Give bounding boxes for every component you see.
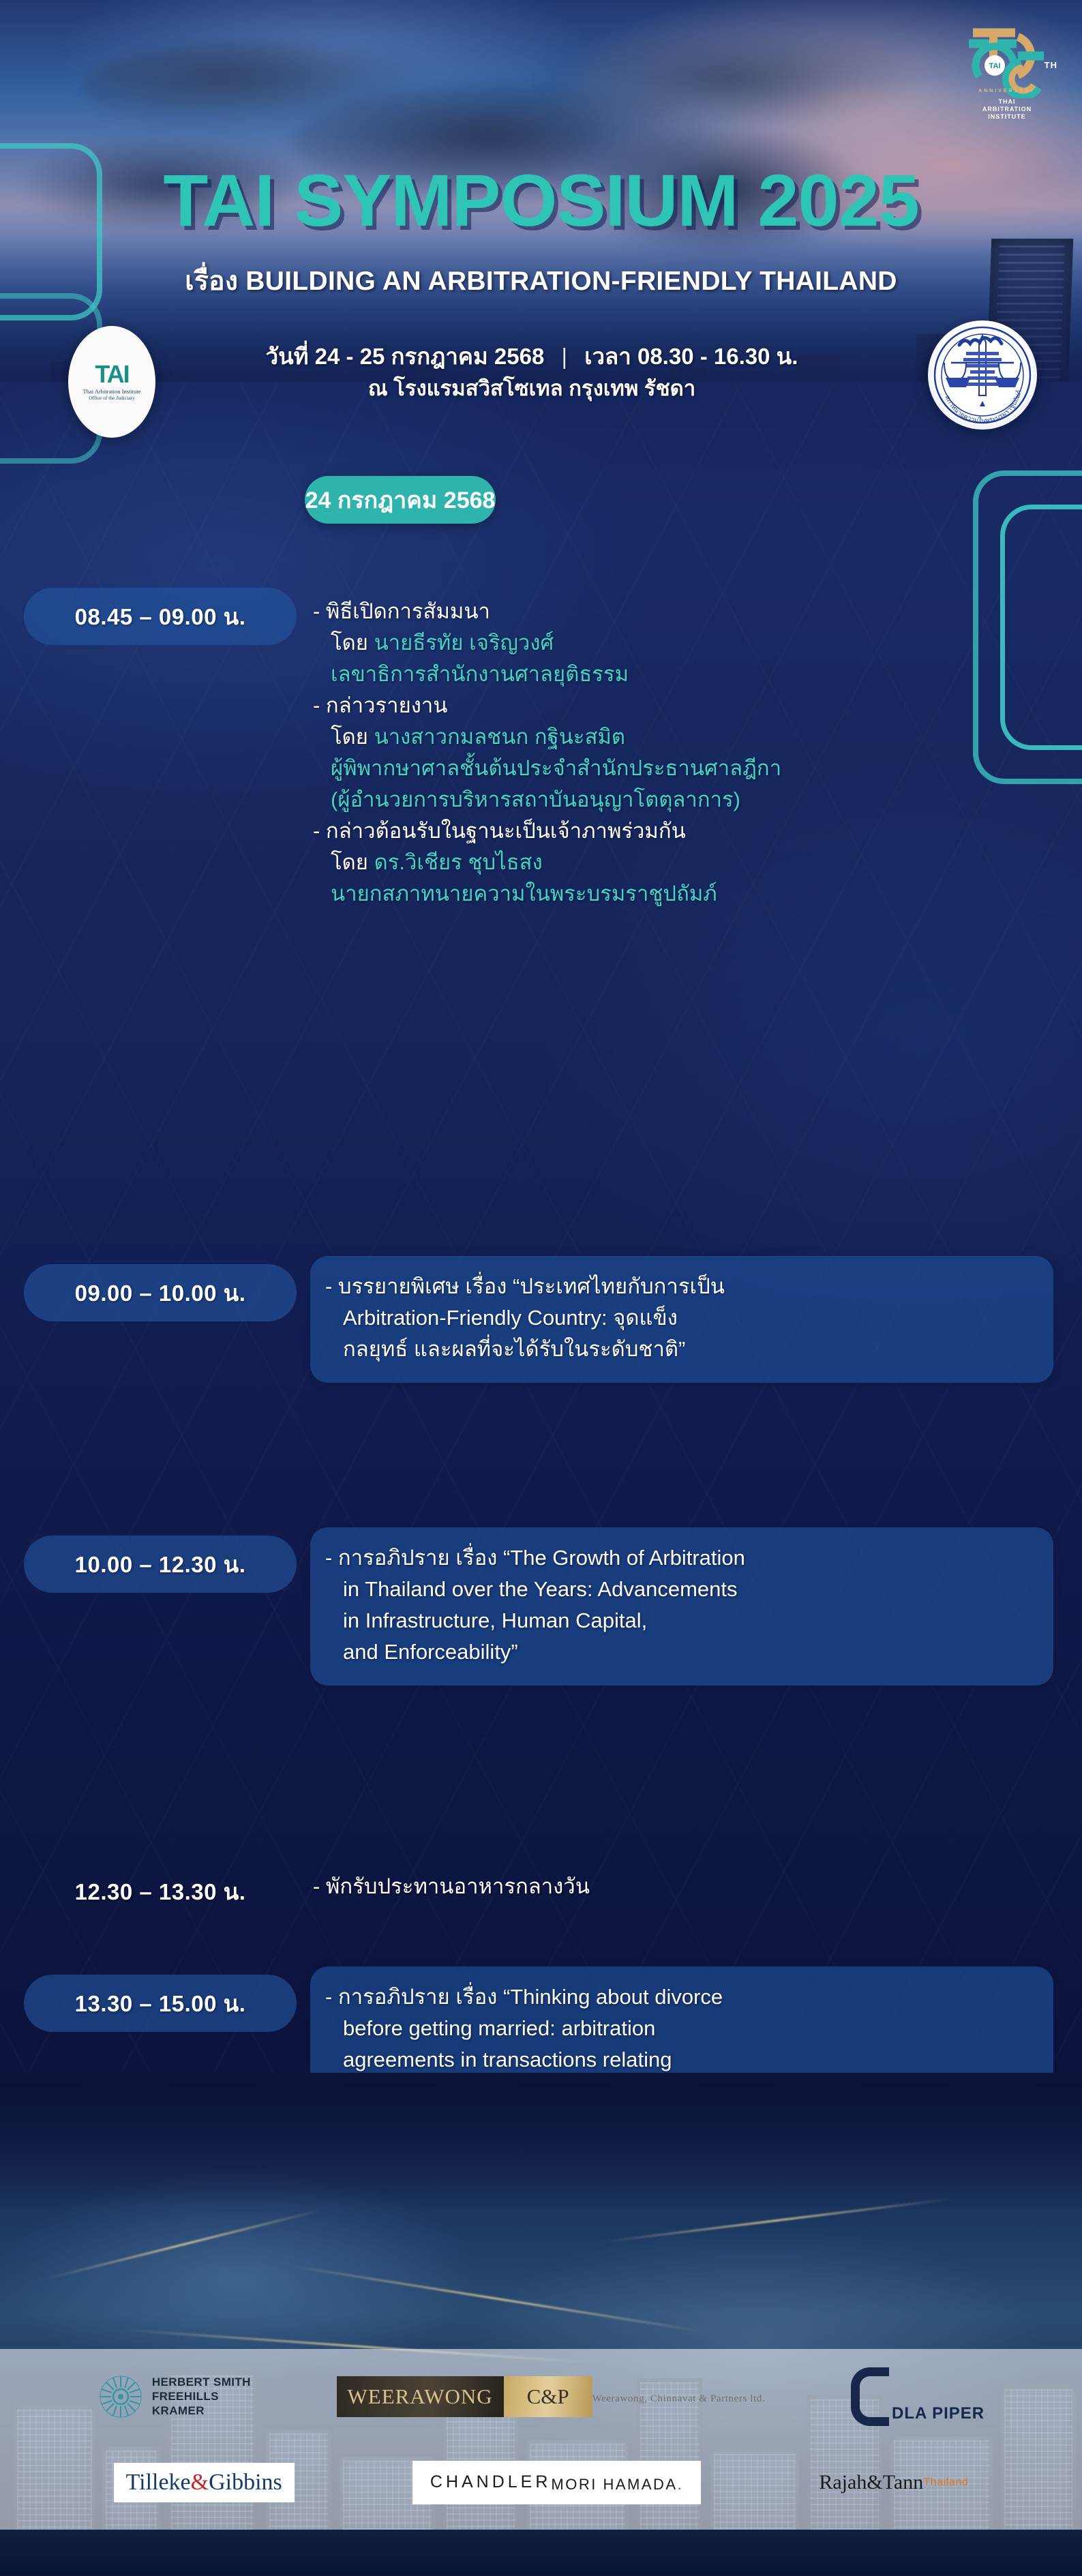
dla-piper-wordmark: DLA PIPER [892,2404,985,2426]
herbert-smith-burst-icon [97,2373,144,2420]
tilleke-line1: Tilleke [126,2470,191,2495]
schedule-detail-line: in Infrastructure, Human Capital, [325,1605,1037,1636]
schedule-detail-line: (ผู้อำนวยการบริหารสถาบันอนุญาโตตุลาการ) [313,784,1041,815]
sponsor-chandler-mori-hamada: CHANDLER MORI HAMADA. [412,2461,701,2504]
event-venue: ณ โรงแรมสวิสโซเทล กรุงเทพ รัชดา [205,372,859,405]
schedule-detail-line: โดย ดร.วิเชียร ชุบไธสง [313,847,1041,878]
schedule-row: 15.00 - 16.30 น.- การอภิปรายเรื่อง “Unlo… [0,1399,1082,1526]
schedule-detail-line: in Thailand over the Years: Advancements [325,1574,1037,1605]
schedule-detail-line: โดย นางสาวกมลชนก กฐินะสมิต [313,721,1041,753]
sponsor-tilleke-gibbins: Tilleke &Gibbins [114,2463,295,2502]
anniversary-badge: TAI TH ANNIVERSARY THAI ARBITRATION INST… [952,16,1062,139]
schedule-detail: - การอภิปราย เรื่อง “The Growth of Arbit… [310,1527,1053,1686]
sponsor-herbert-smith-freehills-kramer: HERBERT SMITH FREEHILLS KRAMER [97,2373,251,2420]
schedule-time-badge: 08.45 – 09.00 น. [24,588,297,645]
sponsor-rajah-tann-thailand: Rajah &Tann Thailand [819,2472,968,2493]
schedule-speaker-name: ดร.วิเชียร ชุบไธสง [374,850,543,874]
schedule-detail-line: - การอภิปราย เรื่อง “The Growth of Arbit… [325,1542,1037,1574]
event-date: วันที่ 24 - 25 กรกฎาคม 2568 [266,344,545,369]
schedule-row: 09.00 – 10.00 น.- บรรยายพิเศษ เรื่อง “ปร… [0,912,1082,1039]
dla-piper-c-icon [851,2367,889,2426]
weerawong-wordmark: WEERAWONG [337,2376,504,2417]
schedule-list: 08.45 – 09.00 น.- พิธีเปิดการสัมมนาโดย น… [0,586,1082,1526]
schedule-detail-line: - กล่าวรายงาน [313,690,1041,721]
anniversary-word: ANNIVERSARY [952,89,1062,93]
anniversary-org-line3: INSTITUTE [988,113,1026,120]
tilleke-ampersand: & [191,2470,209,2495]
tilleke-line2: Gibbins [209,2470,282,2495]
anniversary-org-line1: THAI [999,98,1016,105]
lawyers-council-seal: สภาทนายความในพระบรมราชูปถัมภ์ [928,320,1037,430]
bottom-strip [0,2530,1082,2576]
sponsor-band: HERBERT SMITH FREEHILLS KRAMER WEERAWONG… [0,2349,1082,2530]
schedule-speaker-name: นางสาวกมลชนก กฐินะสมิต [374,725,626,749]
tai-logo: TAI Thai Arbitration Institute Office of… [68,326,155,438]
chandler-dot-icon: . [678,2476,684,2493]
schedule-row: 13.30 – 15.00 น.- การอภิปราย เรื่อง “Thi… [0,1241,1082,1399]
schedule-line-prefix: โดย [331,631,374,655]
anniversary-tai-mark: TAI [989,62,1001,70]
schedule-row: 10.00 – 12.30 น.- การอภิปราย เรื่อง “The… [0,1039,1082,1197]
schedule-detail-line: before getting married: arbitration [325,2013,1037,2044]
schedule-line-prefix: โดย [331,725,374,749]
schedule-detail: - พิธีเปิดการสัมมนาโดย นายธีรทัย เจริญวง… [310,586,1053,922]
schedule-row: 12.30 – 13.30 น.- พักรับประทานอาหารกลางว… [0,1197,1082,1241]
schedule-detail-line: ผู้พิพากษาศาลชั้นต้นประจำสำนักประธานศาลฎ… [313,753,1041,784]
rajah-line1: Rajah [819,2472,867,2493]
chandler-line1: CHANDLER [430,2472,552,2492]
chandler-line2: MORI HAMADA [551,2476,677,2493]
schedule-detail-line: - พิธีเปิดการสัมมนา [313,596,1041,627]
schedule-detail-line: นายกสภาทนายความในพระบรมราชูปถัมภ์ [313,878,1041,910]
sponsor-hsf-name: HERBERT SMITH FREEHILLS KRAMER [152,2375,251,2418]
tai-logo-line2: Office of the Judiciary [89,395,135,401]
sponsor-row-1: HERBERT SMITH FREEHILLS KRAMER WEERAWONG… [0,2355,1082,2438]
event-time: เวลา 08.30 - 16.30 น. [584,344,798,369]
anniversary-org-name: THAI ARBITRATION INSTITUTE [952,98,1062,121]
rajah-line2: &Tann [867,2472,923,2493]
weerawong-cp-badge: C&P [504,2376,592,2417]
schedule-detail-line: agreements in transactions relating [325,2044,1037,2076]
datetime-separator: | [562,341,568,372]
tai-logo-mark: TAI [95,363,128,386]
event-datetime-venue: วันที่ 24 - 25 กรกฎาคม 2568 | เวลา 08.30… [205,341,859,405]
anniversary-35-icon: TAI [952,16,1062,98]
schedule-detail-line: เลขาธิการสำนักงานศาลยุติธรรม [313,659,1041,690]
scales-of-justice-icon: สภาทนายความในพระบรมราชูปถัมภ์ [928,320,1037,430]
schedule-time-badge: 12.30 – 13.30 น. [24,1863,297,1920]
hsf-line-1: HERBERT SMITH [152,2376,251,2388]
schedule-line-prefix: โดย [331,850,374,874]
anniversary-ordinal: TH [1045,60,1057,70]
schedule-detail-line: โดย นายธีรทัย เจริญวงศ์ [313,627,1041,659]
schedule-detail: - พักรับประทานอาหารกลางวัน [310,1861,1053,1915]
poster-root: TAI TH ANNIVERSARY THAI ARBITRATION INST… [0,0,1082,2576]
hsf-line-3: KRAMER [152,2404,205,2417]
schedule-detail-line: - การอภิปราย เรื่อง “Thinking about divo… [325,1981,1037,2013]
weerawong-caption: Weerawong, Chinnavat & Partners ltd. [592,2393,766,2405]
page-title: TAI SYMPOSIUM 2025 [0,164,1082,237]
schedule-detail-line: - กล่าวต้อนรับในฐานะเป็นเจ้าภาพร่วมกัน [313,815,1041,847]
schedule-time-badge: 10.00 – 12.30 น. [24,1536,297,1593]
hsf-line-2: FREEHILLS [152,2390,219,2403]
sponsor-weerawong-cp: WEERAWONG C&P Weerawong, Chinnavat & Par… [337,2376,766,2417]
page-subtitle: เรื่อง BUILDING AN ARBITRATION-FRIENDLY … [0,266,1082,297]
anniversary-org-line2: ARBITRATION [982,106,1032,113]
schedule-speaker-name: นายธีรทัย เจริญวงศ์ [374,631,554,655]
tai-logo-line1: Thai Arbitration Institute [83,388,141,395]
schedule-detail-line: - พักรับประทานอาหารกลางวัน [313,1871,1041,1902]
day-badge: 24 กรกฎาคม 2568 [305,476,496,524]
sponsor-row-2: Tilleke &Gibbins CHANDLER MORI HAMADA. R… [0,2441,1082,2524]
rajah-line3: Thailand [923,2476,968,2489]
schedule-row: 08.45 – 09.00 น.- พิธีเปิดการสัมมนาโดย น… [0,586,1082,912]
schedule-detail-line: and Enforceability” [325,1636,1037,1668]
sponsor-dla-piper: DLA PIPER [851,2367,985,2426]
schedule-time-badge: 13.30 – 15.00 น. [24,1975,297,2032]
